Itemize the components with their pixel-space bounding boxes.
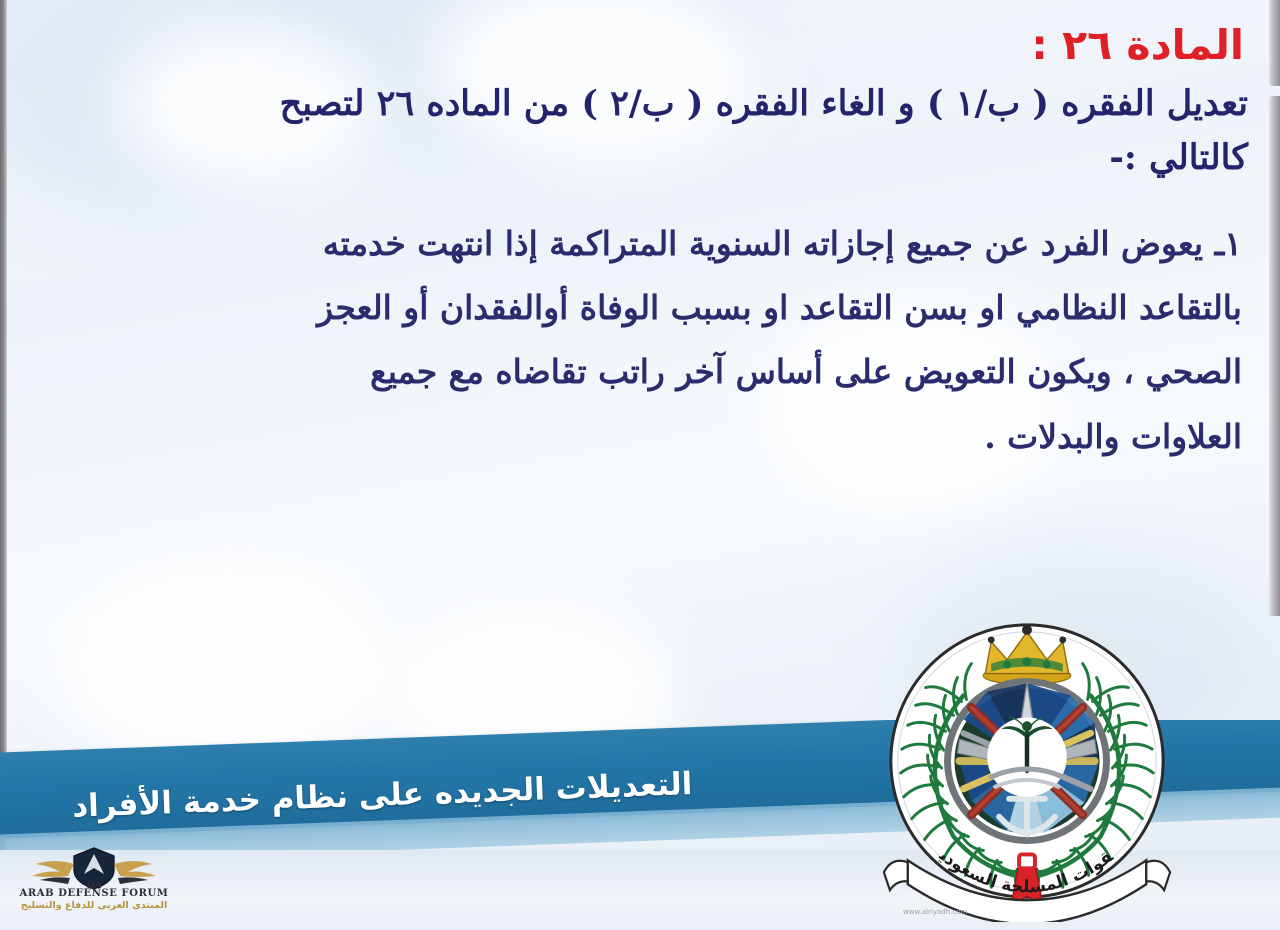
slide-content: المادة ٢٦ : تعديل الفقره ( ب/١ ) و الغاء… <box>26 22 1254 469</box>
body-line-4: العلاوات والبدلات . <box>62 405 1242 469</box>
military-emblem-disc-icon <box>948 682 1107 841</box>
article-subtitle: تعديل الفقره ( ب/١ ) و الغاء الفقره ( ب/… <box>66 77 1248 186</box>
subtitle-line-2: كالتالي :- <box>66 131 1248 185</box>
slide-edge-strip-right-middle <box>1269 96 1280 616</box>
slide-canvas: المادة ٢٦ : تعديل الفقره ( ب/١ ) و الغاء… <box>0 0 1280 930</box>
body-line-1: ١ـ يعوض الفرد عن جميع إجازاته السنوية ال… <box>62 212 1242 276</box>
article-body-paragraph: ١ـ يعوض الفرد عن جميع إجازاته السنوية ال… <box>62 212 1242 469</box>
body-line-2: بالتقاعد النظامي او بسن التقاعد او بسبب … <box>62 276 1242 340</box>
saudi-armed-forces-emblem-icon: القوات المسلحة السعودية <box>868 612 1186 922</box>
slide-edge-strip-right-top <box>1269 0 1280 86</box>
emblem-source-url: www.alriyadh.com <box>903 908 967 916</box>
body-line-3: الصحي ، ويكون التعويض على أساس آخر راتب … <box>62 340 1242 404</box>
article-title: المادة ٢٦ : <box>26 22 1244 69</box>
subtitle-line-1: تعديل الفقره ( ب/١ ) و الغاء الفقره ( ب/… <box>280 83 1248 124</box>
